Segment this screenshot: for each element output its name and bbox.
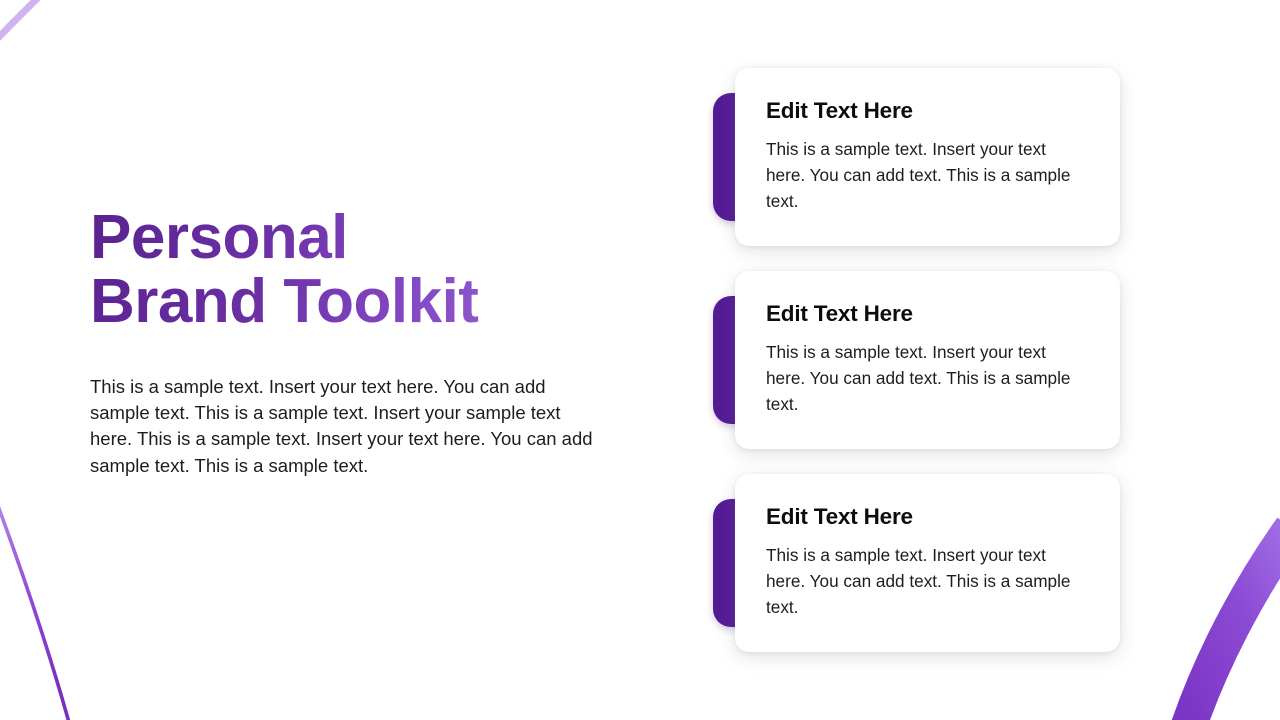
bottom-left-arc-path: [0, 495, 70, 720]
bottom-right-arc-path: [1188, 528, 1280, 720]
card-title: Edit Text Here: [766, 504, 1090, 530]
top-left-arc-path: [0, 0, 44, 46]
card-item[interactable]: Edit Text Here This is a sample text. In…: [713, 474, 1133, 652]
page-title: Personal Brand Toolkit: [90, 206, 620, 334]
card-title: Edit Text Here: [766, 301, 1090, 327]
card-text: This is a sample text. Insert your text …: [766, 543, 1071, 620]
card-body[interactable]: Edit Text Here This is a sample text. In…: [735, 68, 1120, 246]
title-block: Personal Brand Toolkit This is a sample …: [90, 206, 620, 479]
card-list: Edit Text Here This is a sample text. In…: [713, 68, 1133, 652]
card-item[interactable]: Edit Text Here This is a sample text. In…: [713, 271, 1133, 449]
intro-paragraph: This is a sample text. Insert your text …: [90, 374, 602, 479]
card-text: This is a sample text. Insert your text …: [766, 340, 1071, 417]
slide-canvas: Personal Brand Toolkit This is a sample …: [0, 0, 1280, 720]
card-body[interactable]: Edit Text Here This is a sample text. In…: [735, 271, 1120, 449]
card-text: This is a sample text. Insert your text …: [766, 137, 1071, 214]
card-body[interactable]: Edit Text Here This is a sample text. In…: [735, 474, 1120, 652]
card-item[interactable]: Edit Text Here This is a sample text. In…: [713, 68, 1133, 246]
card-title: Edit Text Here: [766, 98, 1090, 124]
